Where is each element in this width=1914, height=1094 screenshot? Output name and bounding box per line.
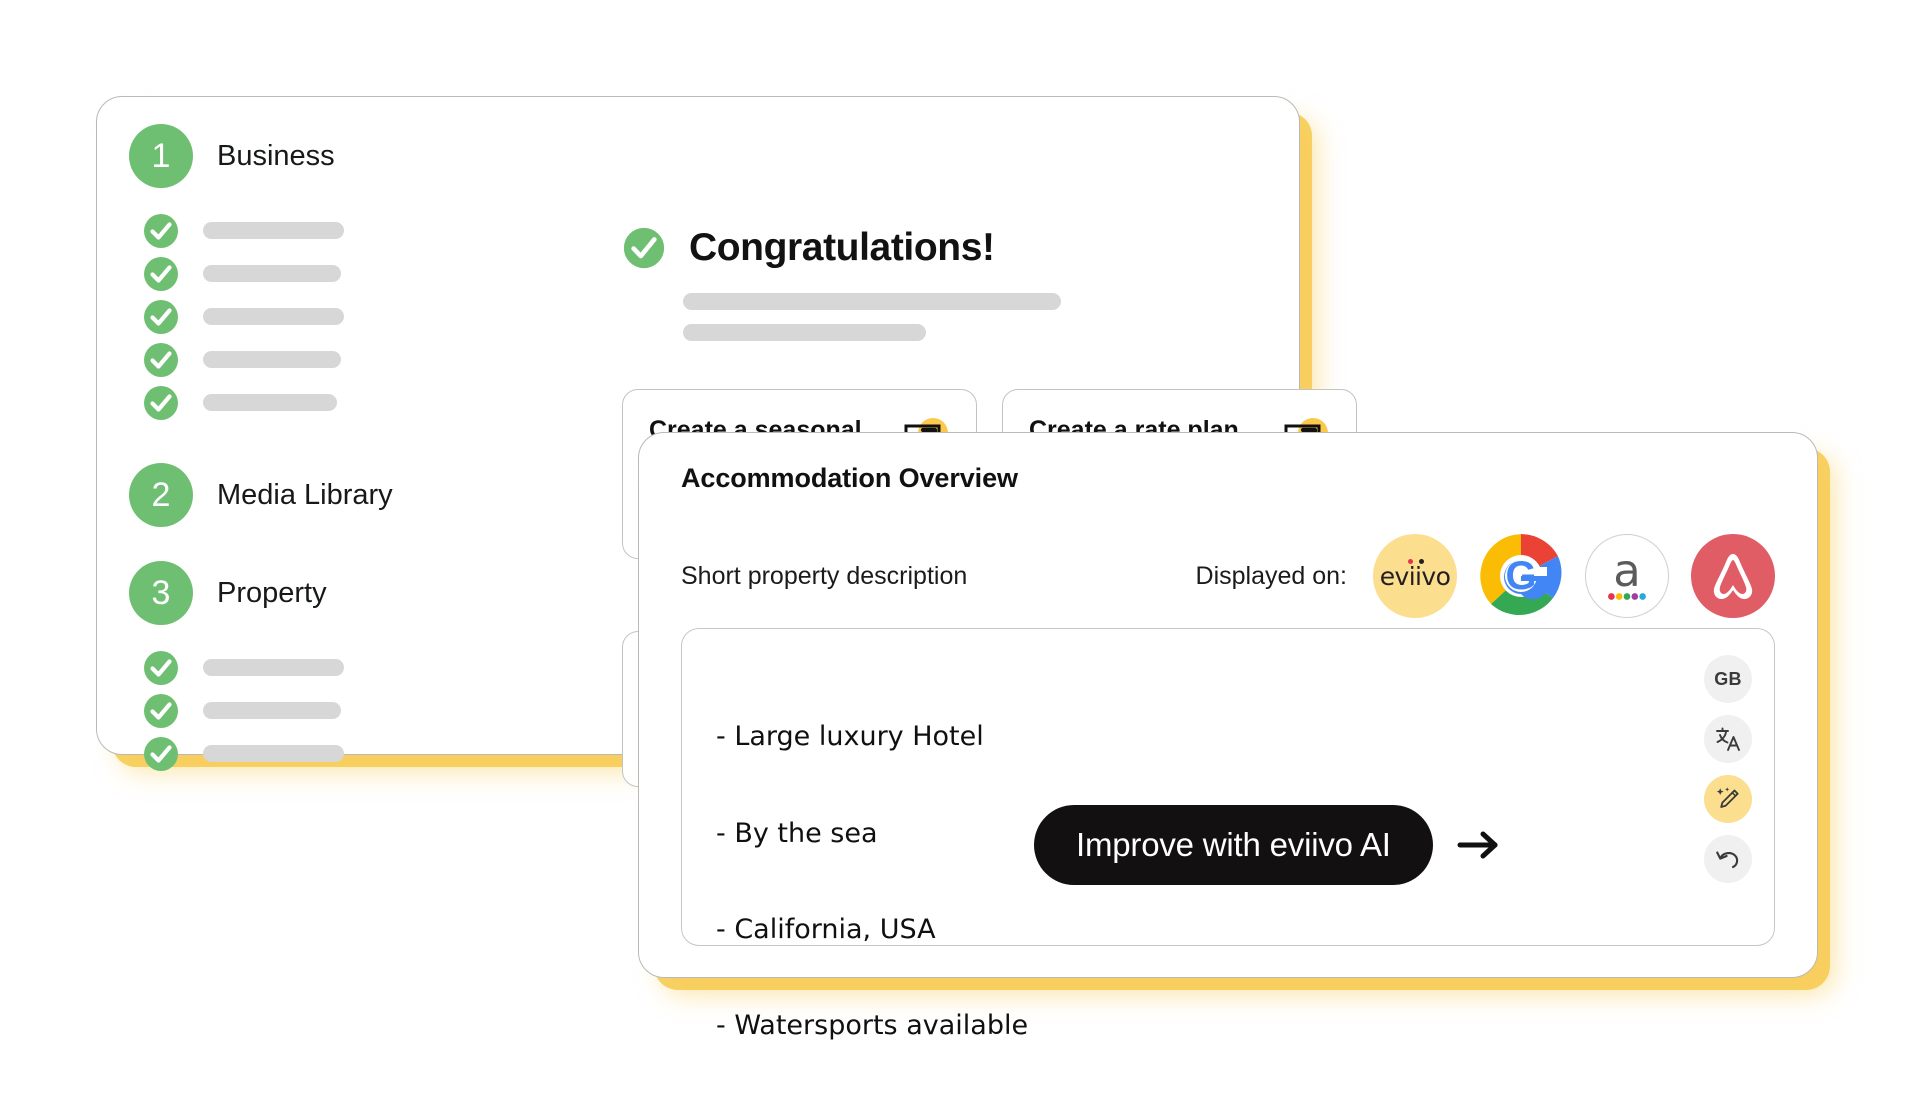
congratulations-header: Congratulations!: [621, 225, 1261, 271]
check-circle-icon: [141, 383, 181, 423]
step-header[interactable]: 1 Business: [129, 117, 529, 195]
magic-wand-pencil-icon: [1714, 785, 1742, 813]
editor-tool-rail: GB: [1704, 655, 1752, 883]
airbnb-belo-icon: [1705, 548, 1761, 604]
undo-arrow-icon: [1714, 845, 1742, 873]
step-header[interactable]: 3 Property: [129, 554, 529, 632]
translate-button[interactable]: [1704, 715, 1752, 763]
agoda-letter-a: a: [1613, 544, 1641, 597]
step-number-badge: 1: [129, 124, 193, 188]
list-item[interactable]: [129, 252, 529, 295]
list-item[interactable]: [129, 295, 529, 338]
congratulations-block: Congratulations!: [621, 225, 1261, 355]
eviivo-dot-red: [1408, 559, 1413, 564]
placeholder-bar: [203, 659, 344, 676]
svg-text:G: G: [1505, 554, 1536, 598]
eviivo-dot-black: [1419, 559, 1424, 564]
placeholder-bar: [683, 324, 926, 341]
language-gb-icon: GB: [1714, 669, 1742, 690]
improve-with-ai-group: Improve with eviivo AI: [1034, 805, 1503, 885]
accommodation-overview-panel: Accommodation Overview Short property de…: [638, 432, 1818, 978]
placeholder-bar: [203, 745, 344, 762]
description-line: - Watersports available: [716, 1010, 1740, 1042]
list-item[interactable]: [129, 381, 529, 424]
screenshot-root: 1 Business: [0, 0, 1914, 1094]
displayed-on-label: Displayed on:: [1196, 562, 1347, 591]
onboarding-steps-column: 1 Business: [129, 117, 529, 775]
description-editor[interactable]: - Large luxury Hotel - By the sea - Cali…: [681, 628, 1775, 946]
step-number-badge: 2: [129, 463, 193, 527]
placeholder-bar: [203, 308, 344, 325]
check-circle-icon: [141, 648, 181, 688]
list-item[interactable]: [129, 689, 529, 732]
channel-logo-agoda[interactable]: a: [1585, 534, 1669, 618]
language-gb-button[interactable]: GB: [1704, 655, 1752, 703]
eviivo-wordmark: eviivo: [1380, 562, 1451, 591]
arrow-right-icon[interactable]: [1455, 825, 1503, 865]
description-line: - Large luxury Hotel: [716, 721, 1740, 753]
list-item[interactable]: [129, 338, 529, 381]
channel-logo-eviivo[interactable]: eviivo: [1373, 534, 1457, 618]
translate-icon: [1714, 725, 1742, 753]
placeholder-bar: [203, 351, 341, 368]
placeholder-bar: [683, 293, 1061, 310]
list-item[interactable]: [129, 646, 529, 689]
ai-magic-edit-button[interactable]: [1704, 775, 1752, 823]
channel-logo-google[interactable]: G: [1479, 534, 1563, 618]
accommodation-subheader-row: Short property description Displayed on:…: [681, 534, 1775, 618]
step-title: Property: [217, 577, 327, 610]
step-sub-list: [129, 646, 529, 775]
check-circle-icon: [621, 225, 667, 271]
onboarding-step-property[interactable]: 3 Property: [129, 554, 529, 775]
check-circle-icon: [141, 254, 181, 294]
onboarding-step-business[interactable]: 1 Business: [129, 117, 529, 424]
check-circle-icon: [141, 691, 181, 731]
page-title: Congratulations!: [689, 226, 995, 270]
check-circle-icon: [141, 340, 181, 380]
step-sub-list: [129, 209, 529, 424]
channel-logo-airbnb[interactable]: [1691, 534, 1775, 618]
step-number-badge: 3: [129, 561, 193, 625]
short-description-label: Short property description: [681, 562, 967, 591]
list-item[interactable]: [129, 209, 529, 252]
description-line: - California, USA: [716, 914, 1740, 946]
congratulations-placeholder-text: [683, 293, 1261, 341]
step-title: Media Library: [217, 479, 393, 512]
accommodation-panel-title: Accommodation Overview: [681, 463, 1775, 494]
agoda-icon: a: [1586, 534, 1668, 618]
google-g-icon: G: [1479, 534, 1563, 618]
step-title: Business: [217, 140, 335, 173]
onboarding-step-media-library[interactable]: 2 Media Library: [129, 456, 529, 534]
check-circle-icon: [141, 211, 181, 251]
improve-with-eviivo-ai-button[interactable]: Improve with eviivo AI: [1034, 805, 1433, 885]
placeholder-bar: [203, 222, 344, 239]
undo-button[interactable]: [1704, 835, 1752, 883]
placeholder-bar: [203, 394, 337, 411]
placeholder-bar: [203, 702, 341, 719]
placeholder-bar: [203, 265, 341, 282]
step-header[interactable]: 2 Media Library: [129, 456, 529, 534]
list-item[interactable]: [129, 732, 529, 775]
check-circle-icon: [141, 297, 181, 337]
displayed-on-group: Displayed on: eviivo: [1196, 534, 1775, 618]
check-circle-icon: [141, 734, 181, 774]
